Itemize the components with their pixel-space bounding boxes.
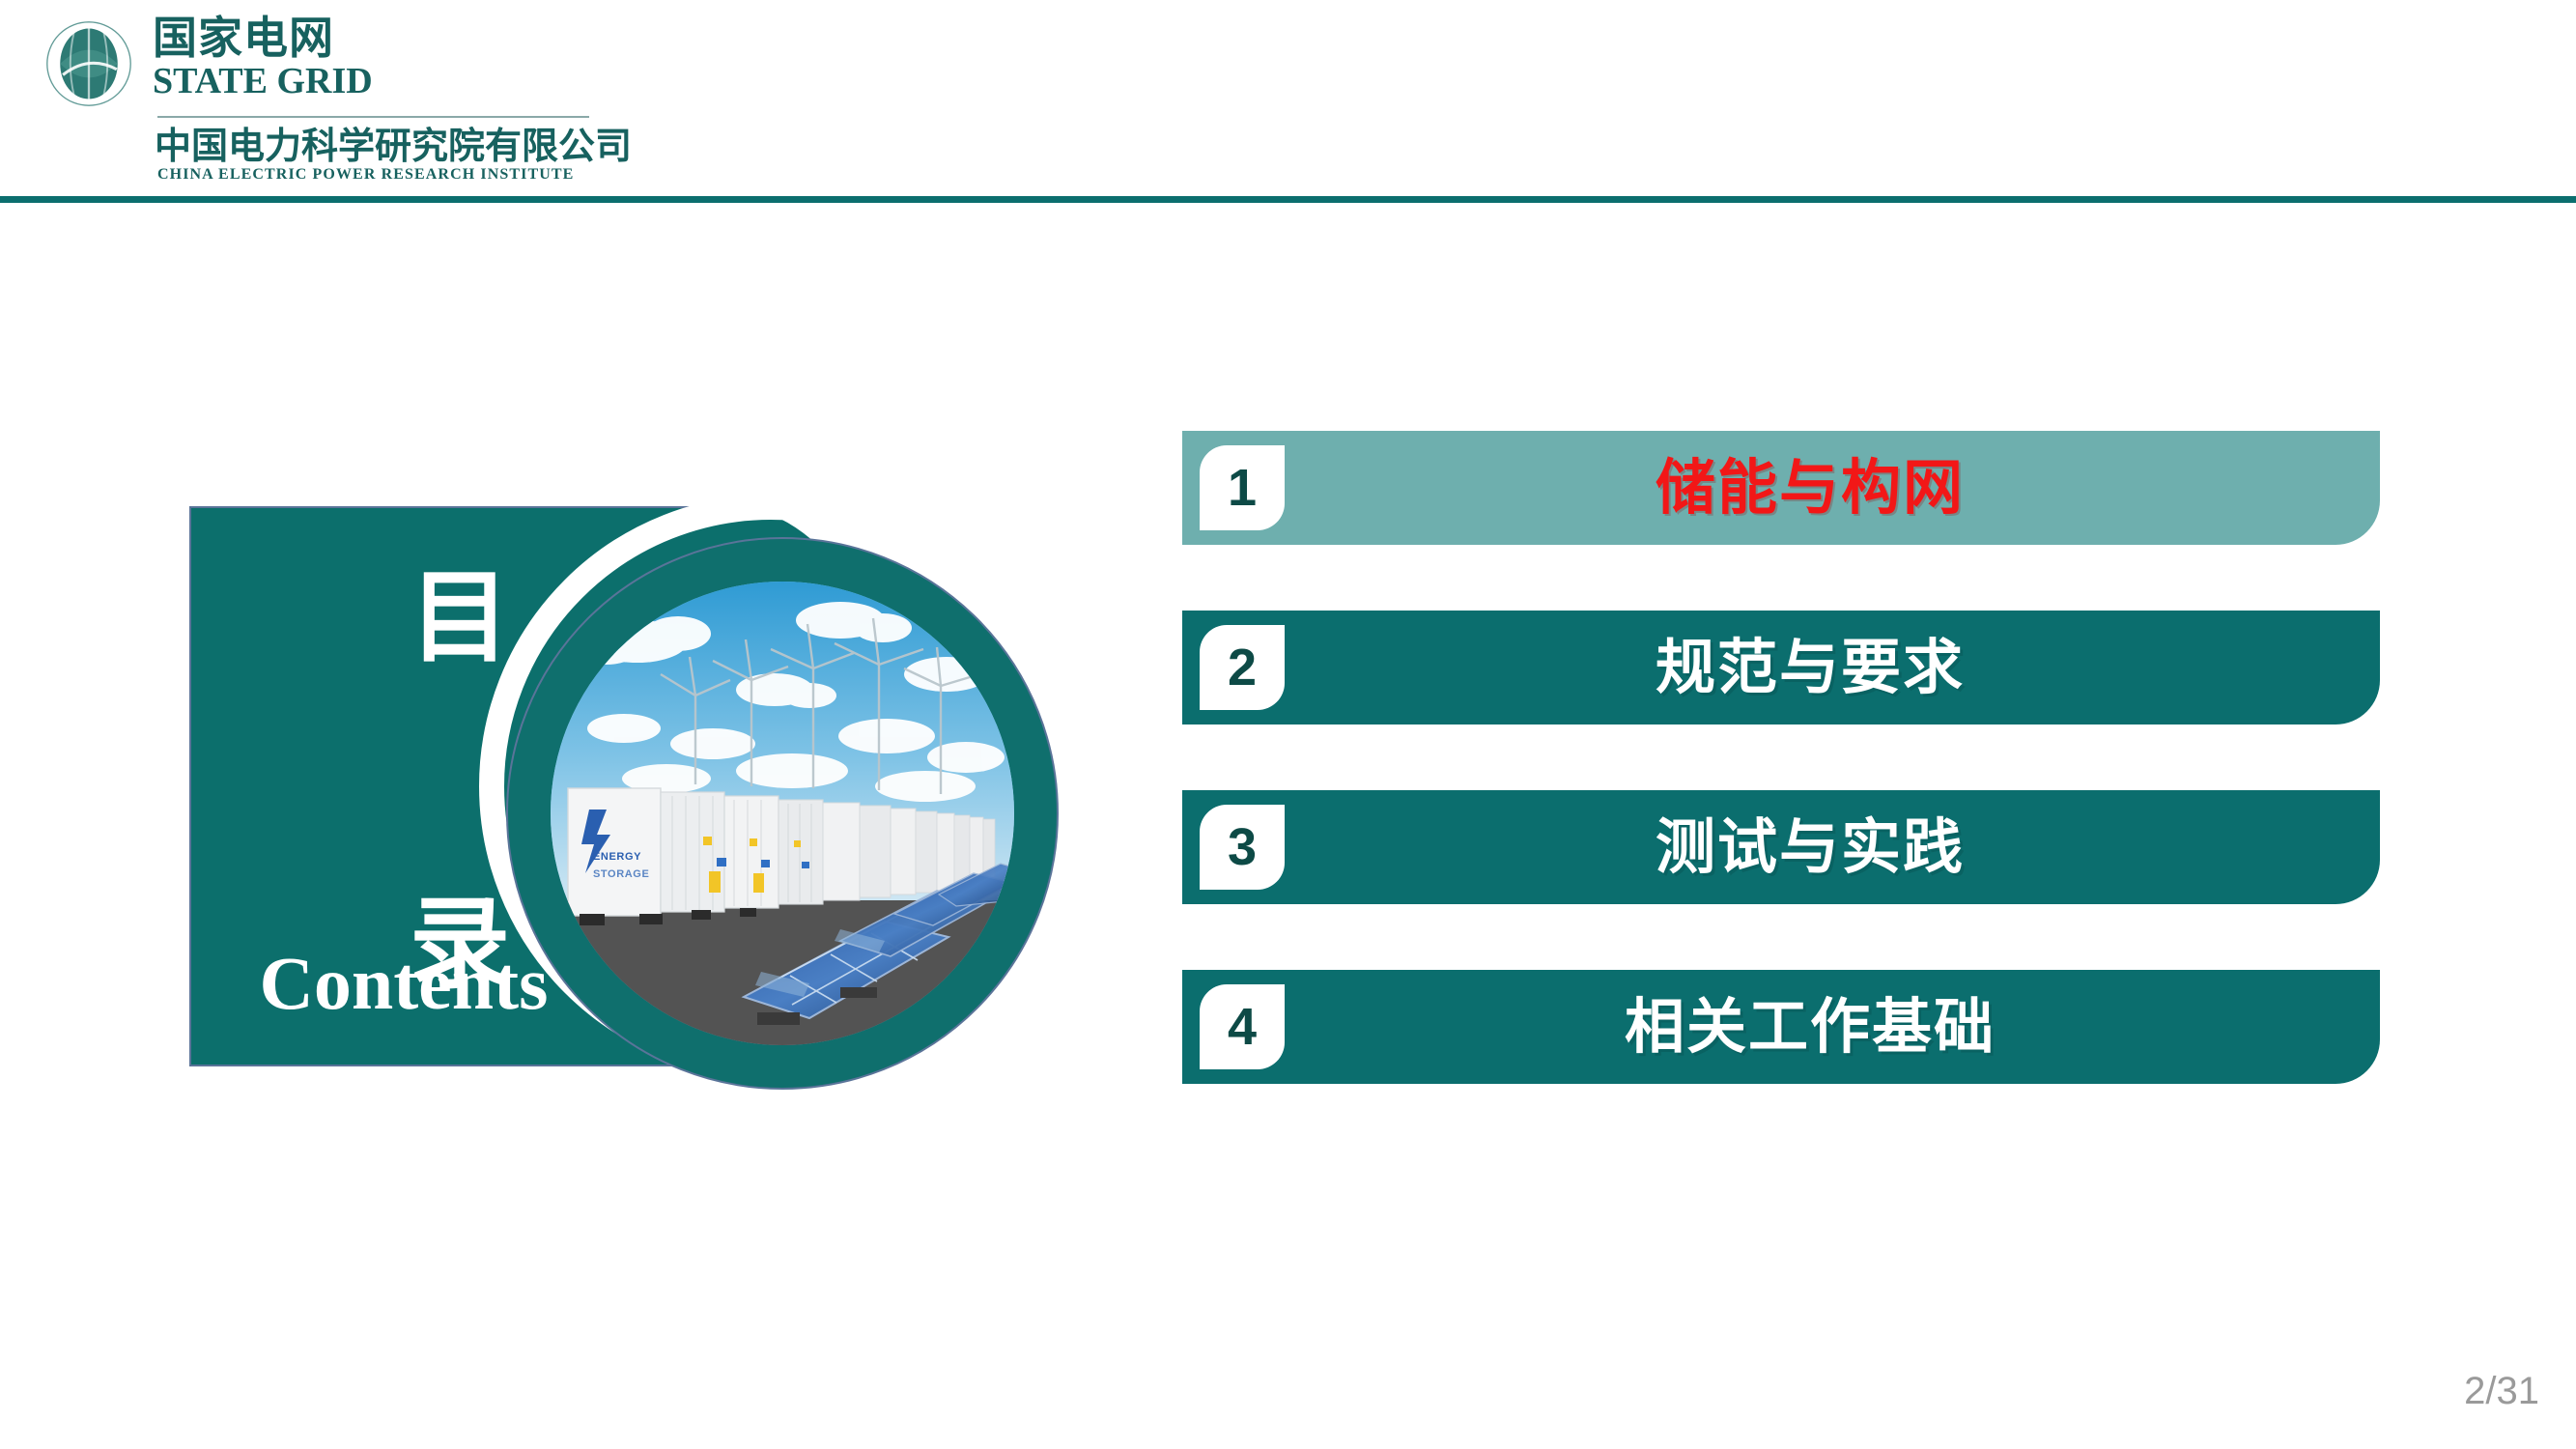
brand-text-block: 国家电网 STATE GRID — [153, 14, 373, 100]
contents-photo-ring: ENERGY STORAGE — [506, 537, 1059, 1090]
agenda-item-4[interactable]: 4 相关工作基础 — [1182, 970, 2380, 1084]
agenda-list: 1 储能与构网 2 规范与要求 3 测试与实践 4 相关工作基础 — [1182, 431, 2380, 1150]
agenda-item-3[interactable]: 3 测试与实践 — [1182, 790, 2380, 904]
agenda-item-2[interactable]: 2 规范与要求 — [1182, 611, 2380, 724]
slide-root: 国家电网 STATE GRID 中国电力科学研究院有限公司 CHINA ELEC… — [0, 0, 2576, 1449]
agenda-item-4-badge: 4 — [1200, 984, 1285, 1069]
state-grid-globe-logo-icon — [42, 17, 135, 110]
agenda-item-1-label: 储能与构网 — [1385, 431, 2235, 545]
agenda-item-3-badge: 3 — [1200, 805, 1285, 890]
page-number: 2/31 — [2464, 1370, 2539, 1412]
slide-header: 国家电网 STATE GRID 中国电力科学研究院有限公司 CHINA ELEC… — [0, 0, 2576, 198]
brand-name-cn: 国家电网 — [153, 14, 373, 62]
header-bottom-rule — [0, 196, 2576, 203]
contents-title-en: Contents — [211, 943, 597, 1024]
agenda-item-1-badge: 1 — [1200, 445, 1285, 530]
agenda-item-2-label: 规范与要求 — [1385, 611, 2235, 724]
agenda-item-4-number: 4 — [1228, 1001, 1257, 1053]
svg-text:STORAGE: STORAGE — [593, 868, 649, 880]
contents-photo: ENERGY STORAGE — [551, 582, 1014, 1045]
institute-name-cn: 中国电力科学研究院有限公司 — [155, 126, 632, 166]
brand-name-en: STATE GRID — [153, 62, 373, 100]
agenda-item-3-label: 测试与实践 — [1385, 790, 2235, 904]
agenda-item-1[interactable]: 1 储能与构网 — [1182, 431, 2380, 545]
agenda-item-1-number: 1 — [1228, 462, 1257, 514]
brand-divider — [157, 116, 589, 118]
svg-text:ENERGY: ENERGY — [593, 851, 641, 863]
agenda-item-4-label: 相关工作基础 — [1385, 970, 2235, 1084]
institute-name-en: CHINA ELECTRIC POWER RESEARCH INSTITUTE — [157, 166, 574, 184]
agenda-item-2-number: 2 — [1228, 641, 1257, 694]
agenda-item-3-number: 3 — [1228, 821, 1257, 873]
agenda-item-2-badge: 2 — [1200, 625, 1285, 710]
